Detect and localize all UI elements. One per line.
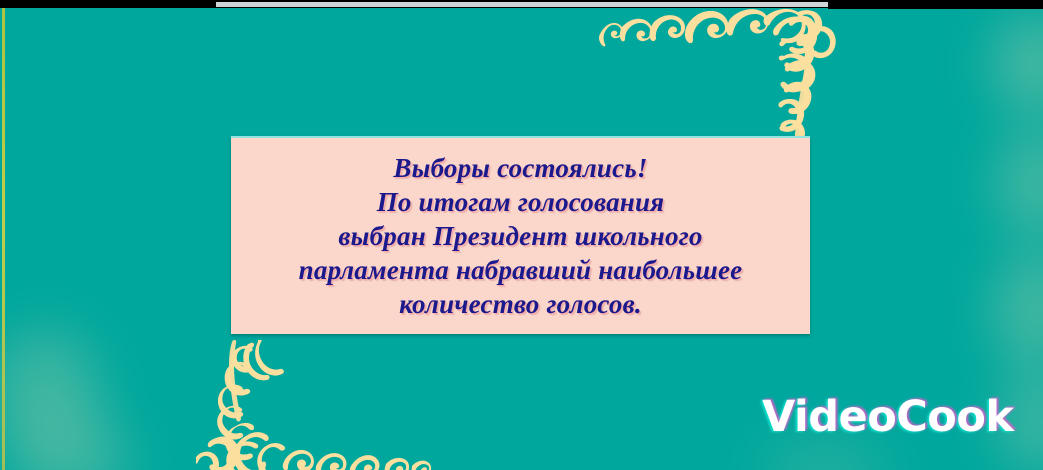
videocook-watermark: VideoCook VideoCook VideoCook xyxy=(762,392,1030,444)
player-letterbox-right xyxy=(828,0,1043,9)
video-frame: Выборы состоялись! По итогам голосования… xyxy=(0,0,1043,470)
caption-line-5: количество голосов. xyxy=(399,287,642,321)
player-progress-bar[interactable] xyxy=(216,2,828,7)
caption-line-3: выбран Президент школьного xyxy=(338,219,702,253)
caption-text-block: Выборы состоялись! По итогам голосования… xyxy=(231,136,810,334)
caption-line-2: По итогам голосования xyxy=(377,185,665,219)
caption-card: Выборы состоялись! По итогам голосования… xyxy=(231,136,810,334)
left-edge-stripe xyxy=(2,6,5,470)
caption-line-4: парламента набравший наибольшее xyxy=(299,253,743,287)
watermark-white-layer: VideoCook xyxy=(762,392,1030,442)
caption-line-1: Выборы состоялись! xyxy=(393,151,647,185)
